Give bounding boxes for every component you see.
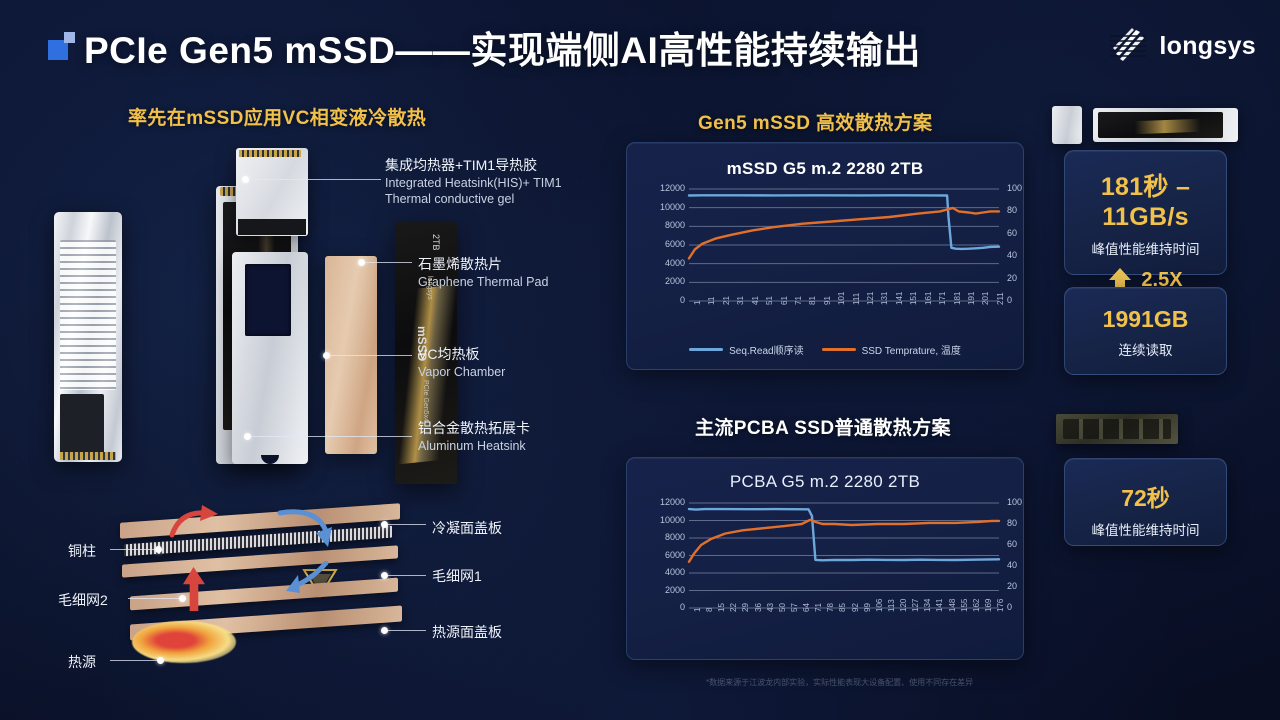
callout-leader: [251, 436, 412, 437]
y-axis-tick-label: 8000: [645, 532, 685, 542]
y2-axis-tick-label: 80: [1007, 518, 1017, 528]
callout-en-1: Graphene Thermal Pad: [418, 274, 548, 290]
vc-leader: [128, 598, 180, 599]
red-flow-arrow-icon: [166, 505, 226, 539]
callout-dot: [323, 352, 330, 359]
legend-label: Seq.Read顺序读: [729, 342, 803, 357]
vc-dot: [157, 657, 164, 664]
vc-label-capillary-2: 毛细网2: [58, 590, 108, 610]
finned-heatsink-image: [54, 212, 122, 462]
callout-cn: 铝合金散热拓展卡: [418, 419, 530, 438]
callout-en-1: Integrated Heatsink(HIS)+ TIM1: [385, 175, 562, 191]
x-axis-tick-label: 71: [814, 603, 823, 612]
x-axis-tick-label: 120: [899, 599, 908, 612]
mssd-small-chip-image: [1052, 106, 1082, 144]
x-axis-tick-label: 101: [837, 292, 846, 305]
x-axis-tick-label: 181: [953, 292, 962, 305]
callout-his: 集成均热器+TIM1导热胶 Integrated Heatsink(HIS)+ …: [385, 156, 562, 207]
x-axis-tick-label: 78: [826, 603, 835, 612]
x-axis-tick-label: 71: [794, 296, 803, 305]
callout-cn: VC均热板: [418, 345, 505, 364]
y-axis-tick-label: 6000: [645, 239, 685, 249]
x-axis-tick-label: 1: [693, 608, 702, 612]
brand-logo: longsys: [1106, 26, 1256, 66]
pcba-chart-card: PCBA G5 m.2 2280 2TB 0200040006000800010…: [626, 457, 1024, 660]
x-axis-tick-label: 131: [880, 292, 889, 305]
x-axis-tick-label: 11: [707, 297, 716, 305]
red-up-arrow-icon: [182, 567, 207, 613]
y-axis-tick-label: 0: [645, 295, 685, 305]
callout-dot: [242, 176, 249, 183]
vc-dot: [381, 572, 388, 579]
x-axis-tick-label: 99: [863, 603, 872, 612]
mssd-chart-plot: 0200040006000800010000120000204060801001…: [627, 143, 1025, 371]
chart-series-line: [689, 509, 999, 560]
vc-leader: [388, 630, 426, 631]
callout-leader: [330, 355, 412, 356]
legend-swatch: [822, 348, 856, 351]
pcba-ssd-product-image: [1056, 414, 1178, 444]
mssd-stat-value: 181秒 – 11GB/s: [1065, 167, 1226, 232]
x-axis-tick-label: 31: [736, 296, 745, 305]
vc-label-capillary-1: 毛细网1: [432, 566, 482, 586]
x-axis-tick-label: 161: [924, 292, 933, 305]
x-axis-tick-label: 171: [938, 292, 947, 305]
vc-dot: [155, 546, 162, 553]
callout-en-1: Vapor Chamber: [418, 364, 505, 380]
x-axis-tick-label: 43: [766, 603, 775, 612]
vc-leader: [110, 549, 156, 550]
page-title: PCIe Gen5 mSSD——实现端侧AI高性能持续输出: [84, 20, 921, 74]
side-capacity-label: 2TB: [431, 234, 441, 251]
mssd-section-heading: Gen5 mSSD 高效散热方案: [698, 108, 932, 135]
y-axis-tick-label: 6000: [645, 550, 685, 560]
his-heatsink-chip-image: [236, 148, 308, 236]
callout-leader: [365, 262, 412, 263]
y2-axis-tick-label: 0: [1007, 295, 1012, 305]
y-axis-tick-label: 10000: [645, 515, 685, 525]
mssd-stat-card: 181秒 – 11GB/s 峰值性能维持时间 2.5X: [1064, 150, 1227, 275]
capillary-mesh-2-plate: [130, 578, 398, 611]
y-axis-tick-label: 10000: [645, 202, 685, 212]
y-axis-tick-label: 2000: [645, 585, 685, 595]
x-axis-tick-label: 64: [802, 603, 811, 612]
side-interface-label: PCIe Gen5x4: [422, 380, 429, 422]
y-axis-tick-label: 4000: [645, 258, 685, 268]
callout-dot: [358, 259, 365, 266]
legend-label: SSD Temprature, 温度: [862, 342, 961, 357]
x-axis-tick-label: 169: [984, 599, 993, 612]
x-axis-tick-label: 29: [741, 603, 750, 612]
x-axis-tick-label: 211: [996, 292, 1005, 305]
heat-source-glow: [132, 621, 236, 663]
vc-leader: [388, 575, 426, 576]
capacity-stat-label: 连续读取: [1065, 339, 1226, 359]
x-axis-tick-label: 50: [778, 603, 787, 612]
callout-aluminum: 铝合金散热拓展卡 Aluminum Heatsink: [418, 419, 530, 454]
chart-svg: [627, 143, 1025, 371]
x-axis-tick-label: 121: [866, 292, 875, 305]
mssd-stat-label: 峰值性能维持时间: [1065, 238, 1226, 258]
x-axis-tick-label: 41: [751, 296, 760, 305]
vc-label-copper-pillar: 铜柱: [68, 541, 96, 561]
y2-axis-tick-label: 40: [1007, 560, 1017, 570]
legend-swatch: [689, 348, 723, 351]
left-panel-heading: 率先在mSSD应用VC相变液冷散热: [128, 103, 426, 130]
mssd-chart-card: mSSD G5 m.2 2280 2TB 0200040006000800010…: [626, 142, 1024, 370]
x-axis-tick-label: 111: [852, 293, 861, 305]
y2-axis-tick-label: 100: [1007, 183, 1022, 193]
pcba-stat-card: 72秒 峰值性能维持时间: [1064, 458, 1227, 546]
slide-header: PCIe Gen5 mSSD——实现端侧AI高性能持续输出 longsys: [0, 0, 1280, 92]
vc-dot: [381, 627, 388, 634]
legend-item: Seq.Read顺序读: [689, 342, 803, 357]
mssd-chart-legend: Seq.Read顺序读SSD Temprature, 温度: [627, 342, 1023, 357]
y2-axis-tick-label: 40: [1007, 250, 1017, 260]
callout-cn: 集成均热器+TIM1导热胶: [385, 156, 562, 175]
x-axis-tick-label: 21: [722, 296, 731, 305]
x-axis-tick-label: 57: [790, 603, 799, 612]
callout-graphene: 石墨烯散热片 Graphene Thermal Pad: [418, 255, 548, 290]
x-axis-tick-label: 1: [693, 301, 702, 305]
x-axis-tick-label: 81: [808, 296, 817, 305]
x-axis-tick-label: 91: [823, 296, 832, 305]
chart-svg: [627, 458, 1025, 661]
vc-label-heat-source: 热源: [68, 652, 96, 672]
x-axis-tick-label: 151: [909, 292, 918, 305]
pcba-chart-plot: 0200040006000800010000120000204060801001…: [627, 458, 1025, 661]
longsys-hatch-mark-icon: [1106, 26, 1150, 66]
y-axis-tick-label: 4000: [645, 567, 685, 577]
y2-axis-tick-label: 60: [1007, 228, 1017, 238]
mssd-heatsink-product-image: [1093, 108, 1238, 142]
chart-series-line: [689, 195, 999, 249]
x-axis-tick-label: 36: [754, 603, 763, 612]
x-axis-tick-label: 113: [887, 599, 896, 612]
y-axis-tick-label: 12000: [645, 497, 685, 507]
x-axis-tick-label: 85: [838, 603, 847, 612]
callout-dot: [244, 433, 251, 440]
legend-item: SSD Temprature, 温度: [822, 342, 961, 357]
blue-return-arrow-icon: [278, 561, 334, 595]
y2-axis-tick-label: 20: [1007, 273, 1017, 283]
x-axis-tick-label: 22: [729, 603, 738, 612]
x-axis-tick-label: 201: [981, 292, 990, 305]
callout-leader: [249, 179, 381, 180]
slide-root: PCIe Gen5 mSSD——实现端侧AI高性能持续输出 longsys: [0, 0, 1280, 720]
callout-en-2: Thermal conductive gel: [385, 191, 562, 207]
x-axis-tick-label: 92: [851, 603, 860, 612]
vc-dot: [381, 521, 388, 528]
chart-series-line: [689, 208, 999, 258]
x-axis-tick-label: 51: [765, 296, 774, 305]
y2-axis-tick-label: 80: [1007, 205, 1017, 215]
pcba-stat-value: 72秒: [1065, 479, 1226, 513]
y2-axis-tick-label: 20: [1007, 581, 1017, 591]
x-axis-tick-label: 191: [967, 292, 976, 305]
vc-leader: [110, 660, 158, 661]
vc-label-heat-source-cover: 热源面盖板: [432, 622, 502, 642]
y2-axis-tick-label: 0: [1007, 602, 1012, 612]
logo-text: longsys: [1159, 32, 1256, 61]
x-axis-tick-label: 8: [705, 608, 714, 612]
vc-label-condenser-cover: 冷凝面盖板: [432, 518, 502, 538]
x-axis-tick-label: 155: [960, 599, 969, 612]
capacity-stat-value: 1991GB: [1065, 306, 1226, 333]
x-axis-tick-label: 162: [972, 599, 981, 612]
y2-axis-tick-label: 100: [1007, 497, 1022, 507]
callout-cn: 石墨烯散热片: [418, 255, 548, 274]
vapor-chamber-stack-diagram: [120, 505, 420, 665]
callout-en-1: Aluminum Heatsink: [418, 438, 530, 454]
x-axis-tick-label: 176: [996, 599, 1005, 612]
y-axis-tick-label: 8000: [645, 220, 685, 230]
callout-vapor-chamber: VC均热板 Vapor Chamber: [418, 345, 505, 380]
y-axis-tick-label: 2000: [645, 276, 685, 286]
x-axis-tick-label: 61: [780, 296, 789, 305]
y2-axis-tick-label: 60: [1007, 539, 1017, 549]
x-axis-tick-label: 134: [923, 599, 932, 612]
pcba-stat-label: 峰值性能维持时间: [1065, 519, 1226, 539]
chart-footnote: *数据来源于江波龙内部实验，实际性能表现大设备配置、使用不同存在差异: [706, 677, 973, 688]
vc-leader: [388, 524, 426, 525]
aluminum-frame-image: [232, 252, 308, 464]
x-axis-tick-label: 127: [911, 599, 920, 612]
blue-flow-arrow-icon: [270, 505, 340, 549]
x-axis-tick-label: 141: [895, 292, 904, 305]
pcba-section-heading: 主流PCBA SSD普通散热方案: [695, 413, 951, 440]
x-axis-tick-label: 15: [717, 603, 726, 612]
x-axis-tick-label: 141: [935, 599, 944, 612]
x-axis-tick-label: 106: [875, 599, 884, 612]
y-axis-tick-label: 0: [645, 602, 685, 612]
blue-square-mark-icon: [48, 32, 78, 62]
vc-dot: [179, 595, 186, 602]
y-axis-tick-label: 12000: [645, 183, 685, 193]
capacity-stat-card: 1991GB 连续读取: [1064, 287, 1227, 375]
x-axis-tick-label: 148: [948, 599, 957, 612]
